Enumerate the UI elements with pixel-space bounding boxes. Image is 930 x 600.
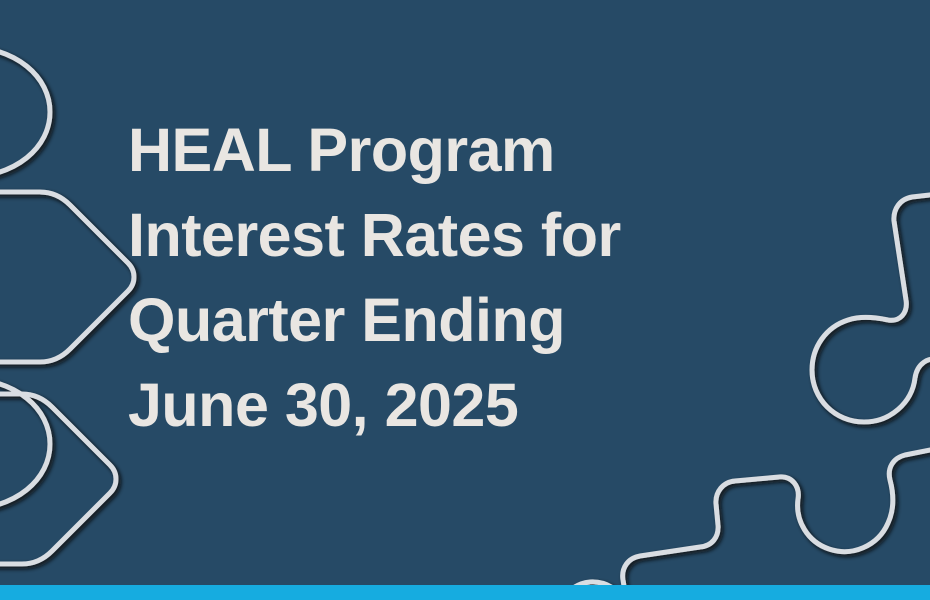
title-line-1: HEAL Program — [128, 108, 768, 193]
puzzle-piece-right-upper-icon — [812, 188, 930, 422]
page-title: HEAL Program Interest Rates for Quarter … — [128, 108, 768, 448]
title-line-2: Interest Rates for — [128, 193, 768, 278]
puzzle-piece-right-lower-icon — [562, 438, 930, 600]
puzzle-piece-left-top-icon — [0, 46, 134, 362]
accent-stripe — [0, 585, 930, 600]
title-line-3: Quarter Ending — [128, 278, 768, 363]
heal-program-banner: HEAL Program Interest Rates for Quarter … — [0, 0, 930, 600]
title-line-4: June 30, 2025 — [128, 363, 768, 448]
puzzle-piece-left-bottom-icon — [0, 378, 116, 564]
